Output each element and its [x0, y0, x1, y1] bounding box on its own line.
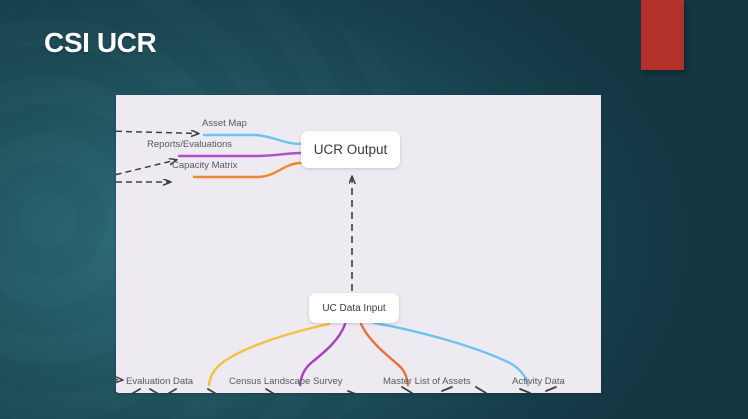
feeder-arrow-evaluation-data	[116, 379, 122, 380]
node-ucr-output[interactable]: UCR Output	[301, 131, 400, 168]
branch-label-reports-evaluations[interactable]: Reports/Evaluations	[147, 139, 232, 150]
branch-label-master-list-of-assets[interactable]: Master List of Assets	[383, 376, 471, 387]
branch-curve-reports-evaluations	[179, 153, 301, 156]
branch-label-asset-map[interactable]: Asset Map	[202, 118, 247, 129]
accent-bar	[641, 0, 684, 70]
clipped-bottom-arrows	[116, 387, 556, 393]
feeder-arrow-asset-map	[116, 131, 198, 134]
page-title: CSI UCR	[44, 27, 156, 59]
branch-label-capacity-matrix[interactable]: Capacity Matrix	[172, 160, 237, 171]
node-uc-data-input[interactable]: UC Data Input	[309, 293, 399, 323]
slide-canvas: CSI UCR	[0, 0, 748, 419]
branch-label-evaluation-data[interactable]: Evaluation Data	[126, 376, 193, 387]
diagram-panel: UCR Output UC Data Input Asset Map Repor…	[116, 95, 601, 393]
feeder-arrow-reports-evaluations	[116, 160, 176, 177]
branch-label-activity-data[interactable]: Activity Data	[512, 376, 565, 387]
branch-label-census-landscape-survey[interactable]: Census Landscape Survey	[229, 376, 343, 387]
